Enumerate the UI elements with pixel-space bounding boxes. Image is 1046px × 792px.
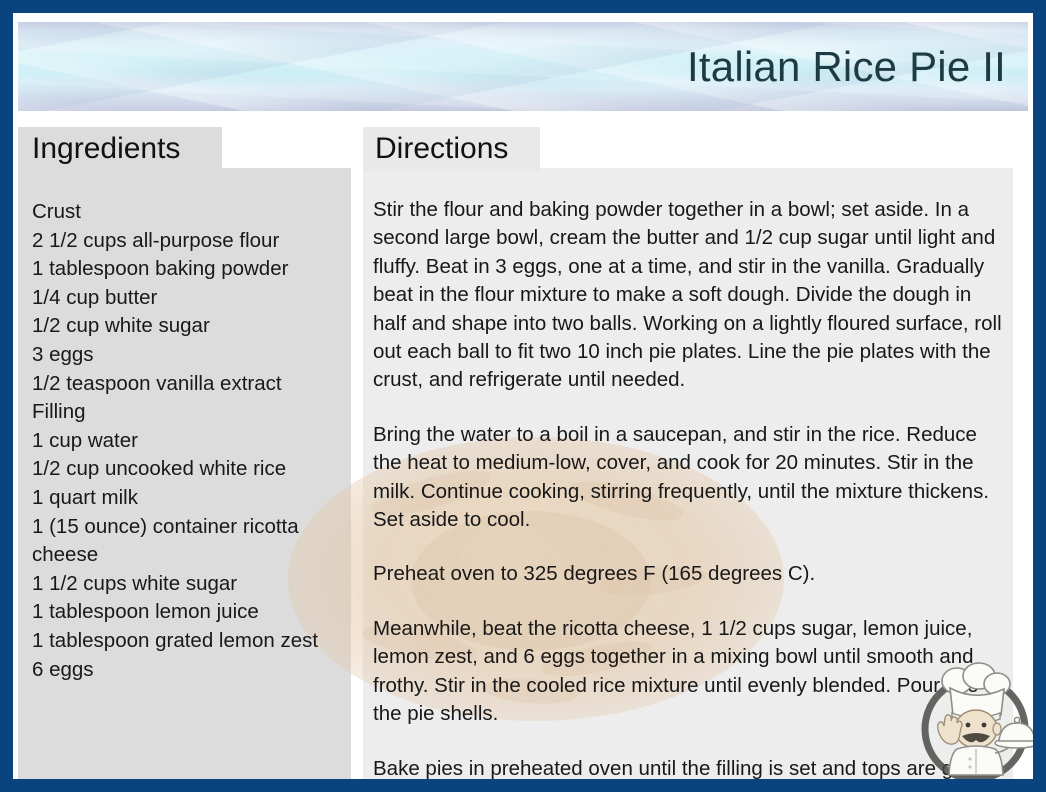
direction-step: Bake pies in preheated oven until the fi… bbox=[373, 755, 1010, 780]
ingredients-heading: Ingredients bbox=[32, 134, 180, 164]
ingredient-line: 1 tablespoon lemon juice bbox=[32, 598, 352, 627]
ingredient-line: 2 1/2 cups all-purpose flour bbox=[32, 227, 352, 256]
directions-section-tab: Directions bbox=[363, 127, 540, 171]
ingredient-line: 1/4 cup butter bbox=[32, 284, 352, 313]
direction-step: Bring the water to a boil in a saucepan,… bbox=[373, 421, 1010, 535]
ingredient-line: 6 eggs bbox=[32, 656, 352, 685]
ingredient-line: 1 quart milk bbox=[32, 484, 352, 513]
direction-step: Stir the flour and baking powder togethe… bbox=[373, 196, 1010, 395]
ingredient-line: Crust bbox=[32, 198, 352, 227]
page-surface: Italian Rice Pie II bbox=[13, 13, 1033, 779]
ingredient-line: 1/2 cup white sugar bbox=[32, 312, 352, 341]
ingredient-line: 1 cup water bbox=[32, 427, 352, 456]
direction-step: Preheat oven to 325 degrees F (165 degre… bbox=[373, 560, 1010, 588]
ingredient-line: Filling bbox=[32, 398, 352, 427]
ingredient-line: 1 (15 ounce) container ricotta cheese bbox=[32, 513, 352, 570]
directions-list: Stir the flour and baking powder togethe… bbox=[373, 196, 1010, 779]
ingredient-line: 1 1/2 cups white sugar bbox=[32, 570, 352, 599]
directions-heading: Directions bbox=[375, 134, 508, 164]
header-banner: Italian Rice Pie II bbox=[18, 22, 1028, 111]
recipe-card: Italian Rice Pie II bbox=[0, 0, 1046, 792]
ingredients-list: Crust2 1/2 cups all-purpose flour1 table… bbox=[32, 198, 352, 684]
ingredient-line: 1/2 cup uncooked white rice bbox=[32, 455, 352, 484]
ingredient-line: 1 tablespoon grated lemon zest bbox=[32, 627, 352, 656]
ingredients-section-tab: Ingredients bbox=[18, 127, 222, 171]
ingredient-line: 3 eggs bbox=[32, 341, 352, 370]
direction-step: Meanwhile, beat the ricotta cheese, 1 1/… bbox=[373, 615, 1010, 729]
ingredient-line: 1/2 teaspoon vanilla extract bbox=[32, 370, 352, 399]
ingredient-line: 1 tablespoon baking powder bbox=[32, 255, 352, 284]
recipe-title: Italian Rice Pie II bbox=[687, 46, 1006, 88]
